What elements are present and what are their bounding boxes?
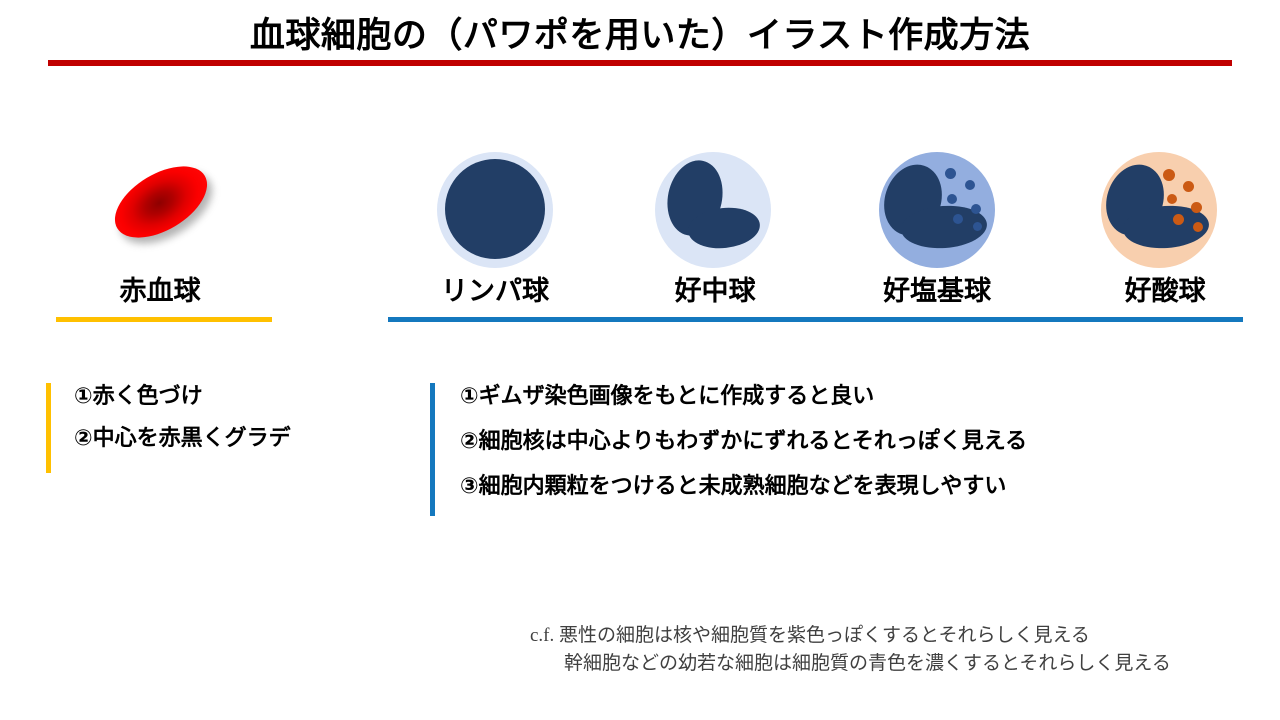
- neutrophil-nucleus: [668, 160, 760, 254]
- granule: [945, 168, 956, 179]
- granule: [947, 194, 957, 204]
- footnote: c.f. 悪性の細胞は核や細胞質を紫色っぽくするとそれらしく見える 幹細胞などの…: [530, 622, 1270, 678]
- granule: [973, 222, 982, 231]
- notes-right-list: ①ギムザ染色画像をもとに作成すると良い ②細胞核は中心よりもわずかにずれるとそれ…: [460, 383, 1220, 499]
- granule: [953, 214, 963, 224]
- footnote-line-1: c.f. 悪性の細胞は核や細胞質を紫色っぽくするとそれらしく見える: [530, 622, 1270, 650]
- footnote-line-2: 幹細胞などの幼若な細胞は細胞質の青色を濃くするとそれらしく見える: [530, 650, 1270, 678]
- lymphocyte-icon: [437, 152, 553, 268]
- granule: [1173, 214, 1184, 225]
- list-item: ②細胞核は中心よりもわずかにずれるとそれっぽく見える: [460, 428, 1220, 454]
- granule: [965, 180, 975, 190]
- basophil-nucleus: [885, 164, 985, 256]
- cell-label-neutrophil: 好中球: [625, 275, 805, 307]
- cell-label-lymphocyte: リンパ球: [405, 275, 585, 307]
- notes-left-block: ①赤く色づけ ②中心を赤黒くグラデ: [46, 383, 406, 473]
- slide-canvas: 血球細胞の（パワポを用いた）イラスト作成方法: [0, 0, 1280, 720]
- cell-label-basophil: 好塩基球: [841, 275, 1033, 307]
- granule: [971, 204, 981, 214]
- granule: [1167, 194, 1177, 204]
- cell-illustrations: [0, 0, 1280, 720]
- notes-right-accent-bar: [430, 383, 435, 516]
- list-item: ②中心を赤黒くグラデ: [74, 425, 406, 451]
- granule: [1191, 202, 1202, 213]
- granule: [1193, 222, 1203, 232]
- eosinophil-icon: [1101, 152, 1217, 268]
- granule: [1183, 181, 1194, 192]
- lymphocyte-nucleus: [445, 159, 545, 259]
- list-item: ①赤く色づけ: [74, 383, 406, 409]
- list-item: ①ギムザ染色画像をもとに作成すると良い: [460, 383, 1220, 409]
- notes-right-block: ①ギムザ染色画像をもとに作成すると良い ②細胞核は中心よりもわずかにずれるとそれ…: [430, 383, 1220, 516]
- red-blood-cell-icon: [98, 150, 224, 260]
- notes-left-accent-bar: [46, 383, 51, 473]
- neutrophil-icon: [655, 152, 771, 268]
- granule: [1163, 169, 1175, 181]
- white-group-divider: [388, 317, 1243, 322]
- cell-label-eosinophil: 好酸球: [1075, 275, 1255, 307]
- notes-left-list: ①赤く色づけ ②中心を赤黒くグラデ: [74, 383, 406, 451]
- list-item: ③細胞内顆粒をつけると未成熟細胞などを表現しやすい: [460, 473, 1220, 499]
- red-group-divider: [56, 317, 272, 322]
- cell-label-red-blood-cell: 赤血球: [46, 275, 274, 307]
- basophil-icon: [879, 152, 995, 268]
